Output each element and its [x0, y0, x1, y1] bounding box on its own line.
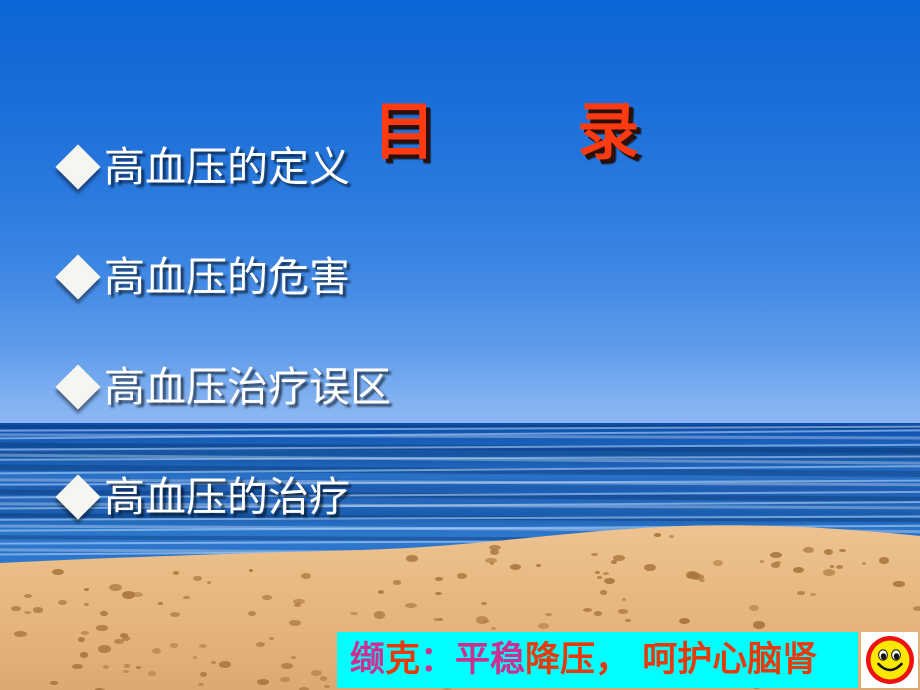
sand-pebble: [256, 642, 265, 647]
sand-pebble: [80, 652, 89, 658]
sand-pebble: [211, 661, 215, 664]
sand-pebble: [862, 562, 866, 565]
sand-pebble: [435, 592, 442, 595]
sand-pebble: [33, 607, 43, 613]
sand-pebble: [491, 627, 496, 630]
sand-pebble: [84, 588, 89, 591]
smiley-face-icon: [864, 634, 916, 686]
tagline-banner: 缬克：平稳降压， 呵护心脑肾: [337, 632, 858, 688]
sand-pebble: [148, 671, 156, 675]
list-item[interactable]: 高血压治疗误区: [62, 358, 862, 416]
tagline-segment-4: [630, 640, 642, 680]
list-item-label: 高血压的治疗: [104, 477, 350, 518]
sand-pebble: [200, 672, 207, 676]
sand-pebble: [24, 611, 31, 614]
tagline-segment-0: 缬: [350, 640, 385, 680]
sand-pebble: [100, 611, 108, 616]
sand-pebble: [219, 661, 231, 668]
sand-pebble: [434, 618, 438, 621]
sand-pebble: [393, 580, 401, 585]
sand-pebble: [699, 579, 704, 582]
sand-pebble: [374, 611, 385, 618]
sand-pebble: [193, 656, 197, 659]
tagline-segment-3: 降压，: [525, 640, 630, 680]
sand-pebble: [199, 644, 207, 648]
sand-pebble: [170, 612, 180, 617]
diamond-bullet-icon: [55, 144, 100, 189]
list-item-label: 高血压的危害: [104, 257, 350, 298]
list-item[interactable]: 高血压的危害: [62, 248, 862, 306]
sand-pebble: [538, 623, 549, 629]
list-item[interactable]: 高血压的定义: [62, 138, 862, 196]
sand-pebble: [11, 606, 21, 610]
sand-pebble: [893, 581, 906, 586]
tagline-text: 缬克：平稳降压， 呵护心脑肾: [337, 643, 817, 678]
sand-pebble: [294, 603, 301, 607]
sand-pebble: [124, 664, 131, 668]
sand-pebble: [481, 602, 486, 605]
sand-pebble: [594, 611, 602, 615]
list-item-label: 高血压的定义: [104, 147, 350, 188]
slide-canvas: 目录 高血压的定义 高血压的危害 高血压治疗误区 高血压的治疗 缬克：平稳降压，…: [0, 0, 920, 690]
sand-pebble: [78, 637, 86, 642]
sand-pebble: [96, 625, 108, 630]
sand-pebble: [103, 665, 109, 669]
sand-pebble: [879, 557, 889, 563]
sand-pebble: [14, 631, 27, 637]
sand-pebble: [198, 683, 204, 686]
tagline-segment-5: 呵护心脑肾: [642, 640, 817, 680]
tagline-segment-2: ：平稳: [420, 640, 525, 680]
sand-pebble: [84, 603, 89, 606]
sand-pebble: [257, 679, 270, 685]
sand-pebble: [158, 602, 163, 605]
diamond-bullet-icon: [55, 254, 100, 299]
sand-pebble: [291, 656, 296, 659]
sand-pebble: [625, 619, 631, 622]
sand-pebble: [289, 620, 300, 626]
sand-pebble: [583, 608, 591, 612]
list-item[interactable]: 高血压的治疗: [62, 468, 862, 526]
sand-pebble: [913, 606, 920, 611]
diamond-bullet-icon: [55, 364, 100, 409]
list-item-label: 高血压治疗误区: [104, 367, 391, 408]
sand-pebble: [109, 584, 122, 591]
smiley-badge: [861, 632, 918, 688]
sand-pebble: [183, 596, 190, 599]
agenda-list: 高血压的定义 高血压的危害 高血压治疗误区 高血压的治疗: [62, 138, 862, 578]
diamond-bullet-icon: [55, 474, 100, 519]
sand-pebble: [98, 645, 110, 653]
sand-pebble: [280, 677, 290, 681]
sand-pebble: [324, 685, 331, 688]
sand-pebble: [81, 631, 89, 635]
sand-pebble: [320, 676, 327, 680]
sand-pebble: [618, 609, 628, 615]
tagline-segment-1: 克: [385, 640, 420, 680]
sand-pebble: [281, 663, 293, 669]
sand-pebble: [600, 590, 607, 595]
sand-pebble: [122, 636, 130, 641]
